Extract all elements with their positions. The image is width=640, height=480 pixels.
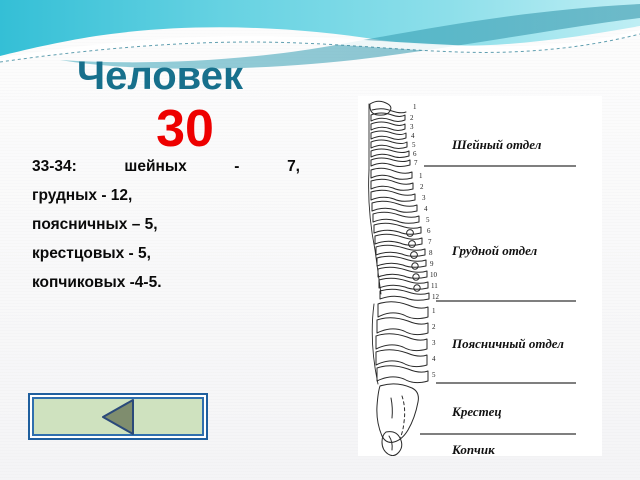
page-title: Человек <box>20 56 300 96</box>
svg-text:7: 7 <box>428 238 432 246</box>
body-line-5: копчиковых -4-5. <box>32 272 300 295</box>
section-label-sacrum: Крестец <box>451 404 502 419</box>
section-label-cervical: Шейный отдел <box>451 137 542 152</box>
svg-text:4: 4 <box>424 205 428 213</box>
section-label-coccyx: Копчик <box>451 442 495 456</box>
body-line-3: поясничных – 5, <box>32 214 300 237</box>
body-line-2: грудных - 12, <box>32 185 300 208</box>
svg-text:8: 8 <box>429 249 433 257</box>
svg-text:1: 1 <box>413 103 417 111</box>
slide-canvas: Человек 30 33-34: шейных - 7, грудных - … <box>0 0 640 480</box>
svg-text:12: 12 <box>432 293 440 301</box>
svg-text:9: 9 <box>430 260 434 268</box>
svg-text:2: 2 <box>432 323 436 331</box>
svg-text:2: 2 <box>420 183 424 191</box>
spine-anatomy-diagram: 1 2 3 4 5 6 7 1 2 3 4 5 6 7 8 9 10 11 12 <box>358 96 602 456</box>
svg-text:4: 4 <box>411 132 415 140</box>
svg-text:3: 3 <box>422 194 426 202</box>
svg-text:5: 5 <box>412 141 416 149</box>
svg-text:1: 1 <box>432 307 436 315</box>
section-label-thoracic: Грудной отдел <box>451 243 538 258</box>
triangle-left-icon <box>101 398 135 436</box>
svg-text:5: 5 <box>432 371 436 379</box>
svg-text:6: 6 <box>413 150 417 158</box>
svg-text:7: 7 <box>414 159 418 167</box>
svg-text:1: 1 <box>419 172 423 180</box>
svg-text:10: 10 <box>430 271 438 279</box>
body-line-4: крестцовых - 5, <box>32 243 300 266</box>
body-line-1: 33-34: шейных - 7, <box>32 156 300 179</box>
svg-text:11: 11 <box>431 282 438 290</box>
svg-text:3: 3 <box>432 339 436 347</box>
svg-text:4: 4 <box>432 355 436 363</box>
back-button[interactable] <box>28 393 208 440</box>
svg-text:5: 5 <box>426 216 430 224</box>
section-label-lumbar: Поясничный отдел <box>451 336 564 351</box>
svg-text:3: 3 <box>410 123 414 131</box>
body-text-block: 33-34: шейных - 7, грудных - 12, пояснич… <box>32 156 300 301</box>
svg-text:6: 6 <box>427 227 431 235</box>
svg-text:2: 2 <box>410 114 414 122</box>
slide-number: 30 <box>20 103 350 155</box>
